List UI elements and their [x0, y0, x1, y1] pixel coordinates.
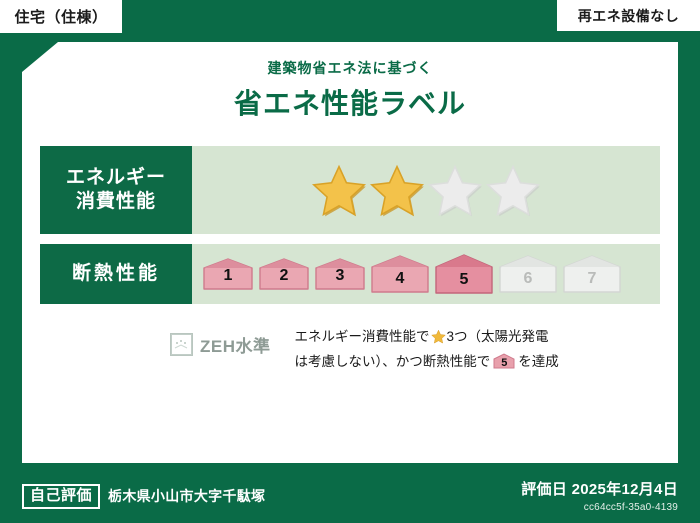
- inline-star-icon: [431, 329, 446, 351]
- footer-right: 評価日 2025年12月4日 cc64cc5f-35a0-4139: [521, 478, 678, 513]
- zeh-mark-label: ZEH水準: [200, 332, 271, 357]
- zeh-mark: ZEH水準: [40, 320, 271, 357]
- star-filled-icon: [311, 163, 367, 217]
- zeh-mark-icon: [170, 333, 193, 356]
- zeh-desc-stars: 3つ（太陽光発電: [447, 329, 549, 344]
- zeh-desc-part2: は考慮しない）、かつ断熱性能で: [295, 354, 491, 369]
- insulation-grade-badge: 5: [434, 253, 494, 295]
- insulation-performance-label: 断熱性能: [40, 244, 192, 304]
- insulation-grade-badge: 6: [498, 254, 558, 294]
- energy-label-line2: 消費性能: [76, 190, 156, 214]
- insulation-grade-number: 7: [562, 270, 622, 288]
- zeh-description: エネルギー消費性能で3つ（太陽光発電 は考慮しない）、かつ断熱性能で5を達成: [281, 320, 661, 373]
- insulation-performance-row: 断熱性能 1234567: [40, 244, 660, 304]
- title-block: 建築物省エネ法に基づく 省エネ性能ラベル: [22, 58, 678, 122]
- property-address: 栃木県小山市大字千駄塚: [108, 486, 265, 506]
- page-title: 省エネ性能ラベル: [22, 82, 678, 122]
- footer-left: 自己評価 栃木県小山市大字千駄塚: [22, 484, 265, 510]
- renewable-energy-tag: 再エネ設備なし: [555, 0, 700, 33]
- insulation-grade-number: 6: [498, 270, 558, 288]
- star-filled-icon: [369, 163, 425, 217]
- insulation-grade-number: 1: [202, 267, 254, 285]
- insulation-grade-number: 2: [258, 267, 310, 285]
- insulation-grade-badge: 4: [370, 254, 430, 294]
- star-empty-icon: [485, 163, 541, 217]
- inline-grade-badge: 5: [493, 353, 515, 369]
- energy-label-line1: エネルギー: [66, 166, 166, 190]
- energy-performance-row: エネルギー 消費性能: [40, 146, 660, 234]
- star-empty-icon: [427, 163, 483, 217]
- insulation-grade-badge: 3: [314, 257, 366, 291]
- zeh-desc-part3: を達成: [518, 354, 559, 369]
- insulation-grade-scale: 1234567: [192, 244, 660, 304]
- insulation-grade-number: 5: [434, 271, 494, 289]
- energy-performance-label: エネルギー 消費性能: [40, 146, 192, 234]
- insulation-grade-number: 4: [370, 270, 430, 288]
- insulation-grade-badge: 2: [258, 257, 310, 291]
- self-assessment-badge: 自己評価: [22, 484, 100, 510]
- insulation-grade-number: 3: [314, 267, 366, 285]
- zeh-desc-part1: エネルギー消費性能で: [295, 329, 430, 344]
- star-rating: [192, 146, 660, 234]
- label-subtitle: 建築物省エネ法に基づく: [22, 58, 678, 78]
- insulation-grade-badge: 1: [202, 257, 254, 291]
- zeh-section: ZEH水準 エネルギー消費性能で3つ（太陽光発電 は考慮しない）、かつ断熱性能で…: [40, 320, 660, 373]
- evaluation-date: 評価日 2025年12月4日: [521, 478, 678, 499]
- building-type-tag: 住宅（住棟）: [0, 0, 124, 35]
- energy-label-root: 住宅（住棟） 再エネ設備なし 建築物省エネ法に基づく 省エネ性能ラベル エネルギ…: [0, 0, 700, 523]
- label-footer: 自己評価 栃木県小山市大字千駄塚 評価日 2025年12月4日 cc64cc5f…: [0, 463, 700, 523]
- insulation-grade-badge: 7: [562, 254, 622, 294]
- inline-grade-badge-number: 5: [493, 355, 515, 373]
- label-card: 建築物省エネ法に基づく 省エネ性能ラベル エネルギー 消費性能 断熱性能 123…: [22, 42, 678, 463]
- label-uid: cc64cc5f-35a0-4139: [521, 502, 678, 513]
